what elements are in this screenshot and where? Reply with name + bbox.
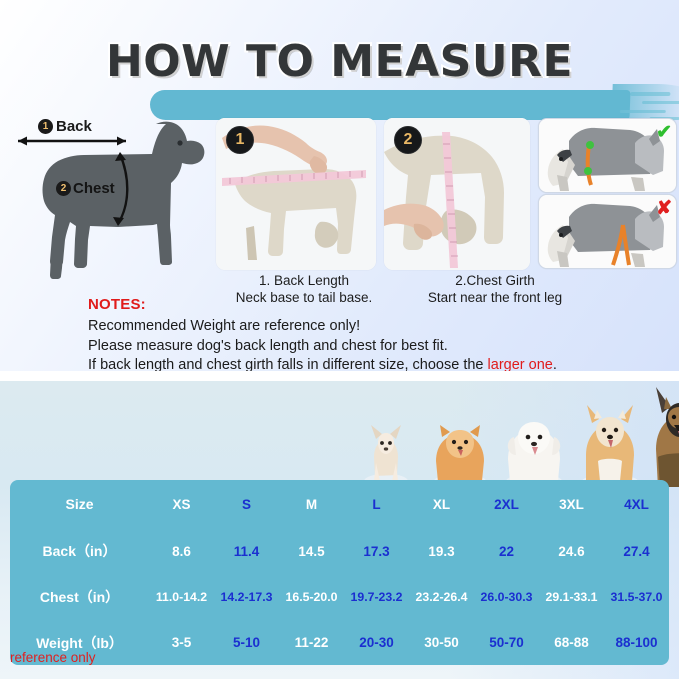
dog-photo-m (502, 411, 566, 487)
cell-back-4xl: 27.4 (604, 544, 669, 559)
badge-number-2: 2 (56, 181, 71, 196)
size-table: Size XS S M L XL 2XL 3XL 4XL Back（in） 8.… (10, 480, 669, 665)
wrong-example-photo: ✘ (538, 194, 677, 269)
title-area: HOW TO MEASURE (0, 36, 679, 98)
cell-back-s: 11.4 (214, 544, 279, 559)
back-length-photo: 1 (216, 118, 376, 270)
cell-weight-xl: 30-50 (409, 635, 474, 650)
dog-photo-s (430, 417, 490, 487)
cell-back-3xl: 24.6 (539, 544, 604, 559)
chest-measurement-label: 2 Chest (56, 180, 115, 197)
row-header-size: Size (10, 496, 149, 512)
cell-back-xl: 19.3 (409, 544, 474, 559)
cell-chest-xl: 23.2-26.4 (409, 590, 474, 604)
cell-weight-4xl: 88-100 (604, 635, 669, 650)
correct-check-icon: ✔ (656, 121, 672, 144)
table-row-size: Size XS S M L XL 2XL 3XL 4XL (10, 480, 669, 528)
cell-size-m: M (279, 497, 344, 512)
badge-number-1: 1 (38, 119, 53, 134)
dog-silhouette-diagram: 1 Back 2 Chest (4, 112, 210, 282)
cell-size-2xl: 2XL (474, 497, 539, 512)
chest-label-text: Chest (73, 180, 115, 197)
chest-girth-photo: 2 (384, 118, 530, 270)
correct-example-photo: ✔ (538, 118, 677, 193)
cell-size-s: S (214, 497, 279, 512)
chest-girth-caption-line1: 2.Chest Girth (400, 272, 590, 289)
dog-size-lineup (350, 383, 679, 487)
table-row-chest: Chest（in） 11.0-14.2 14.2-17.3 16.5-20.0 … (10, 574, 669, 620)
notes-body: Recommended Weight are reference only! P… (88, 317, 668, 376)
brush-stroke-decoration (149, 90, 630, 120)
back-length-caption-line2: Neck base to tail base. (216, 289, 392, 306)
table-row-back: Back（in） 8.6 11.4 14.5 17.3 19.3 22 24.6… (10, 528, 669, 574)
cell-weight-3xl: 68-88 (539, 635, 604, 650)
top-section: HOW TO MEASURE 1 Back (0, 0, 679, 373)
cell-size-xs: XS (149, 497, 214, 512)
cell-back-xs: 8.6 (149, 544, 214, 559)
cell-chest-l: 19.7-23.2 (344, 590, 409, 604)
dog-photo-xs (360, 421, 412, 487)
cell-weight-xs: 3-5 (149, 635, 214, 650)
cell-size-4xl: 4XL (604, 497, 669, 512)
cell-size-xl: XL (409, 497, 474, 512)
notes-label: NOTES: (88, 296, 146, 313)
cell-chest-xs: 11.0-14.2 (149, 590, 214, 604)
dog-photo-l (578, 403, 642, 487)
cell-back-l: 17.3 (344, 544, 409, 559)
size-chart-infographic: HOW TO MEASURE 1 Back (0, 0, 679, 679)
cell-weight-2xl: 50-70 (474, 635, 539, 650)
cell-weight-l: 20-30 (344, 635, 409, 650)
chest-girth-caption-line2: Start near the front leg (400, 289, 590, 306)
wrong-cross-icon: ✘ (656, 197, 672, 220)
cell-chest-m: 16.5-20.0 (279, 590, 344, 604)
row-header-chest: Chest（in） (10, 587, 149, 607)
back-length-caption: 1. Back Length Neck base to tail base. (216, 272, 392, 306)
page-title: HOW TO MEASURE (0, 36, 679, 87)
cell-back-m: 14.5 (279, 544, 344, 559)
cell-chest-2xl: 26.0-30.3 (474, 590, 539, 604)
back-measurement-label: 1 Back (38, 118, 92, 135)
cell-weight-m: 11-22 (279, 635, 344, 650)
cell-size-l: L (344, 497, 409, 512)
notes-line-2: Please measure dog's back length and che… (88, 337, 668, 357)
cell-chest-3xl: 29.1-33.1 (539, 590, 604, 604)
table-row-weight: Weight（lb） 3-5 5-10 11-22 20-30 30-50 50… (10, 620, 669, 665)
section-divider (0, 371, 679, 381)
cell-chest-4xl: 31.5-37.0 (604, 590, 669, 604)
back-label-text: Back (56, 118, 92, 135)
dog-silhouette-icon (4, 112, 210, 282)
cell-back-2xl: 22 (474, 544, 539, 559)
cell-chest-s: 14.2-17.3 (214, 590, 279, 604)
step-badge-2: 2 (394, 126, 422, 154)
row-header-back: Back（in） (10, 541, 149, 561)
step-badge-1: 1 (226, 126, 254, 154)
back-length-caption-line1: 1. Back Length (216, 272, 392, 289)
chest-girth-caption: 2.Chest Girth Start near the front leg (400, 272, 590, 306)
dog-photo-xl (648, 387, 679, 487)
cell-weight-s: 5-10 (214, 635, 279, 650)
notes-line-1: Recommended Weight are reference only! (88, 317, 668, 337)
cell-size-3xl: 3XL (539, 497, 604, 512)
table-footnote: reference only (10, 650, 96, 665)
